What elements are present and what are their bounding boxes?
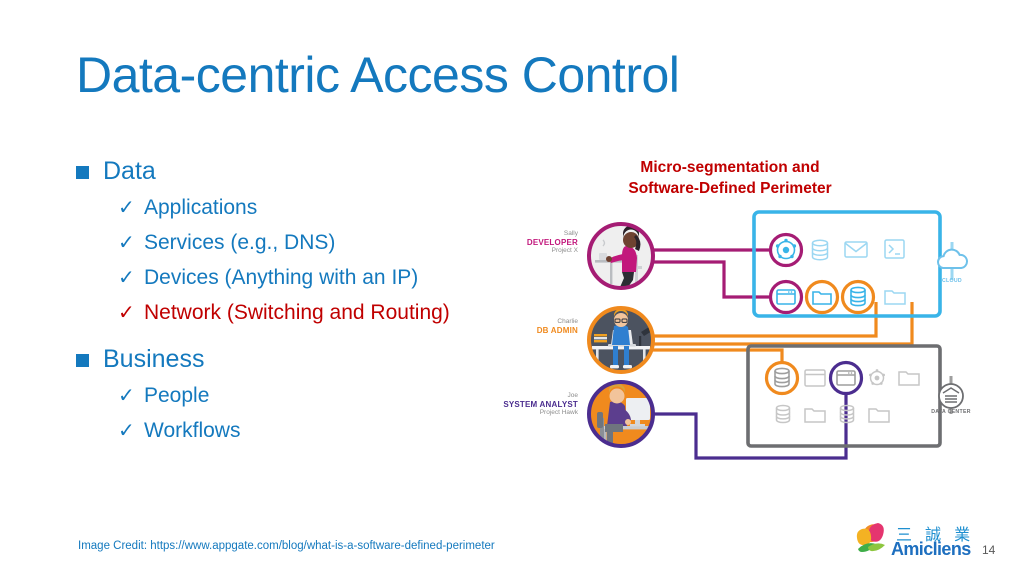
sub-bullet-devices: ✓ Devices (Anything with an IP) xyxy=(118,261,506,294)
person-role: DEVELOPER xyxy=(500,238,578,247)
check-icon: ✓ xyxy=(118,198,134,218)
square-bullet-icon xyxy=(76,354,89,367)
datacenter-zone-border xyxy=(748,346,940,446)
person-name: Charlie xyxy=(500,318,578,326)
database-resource-icon[interactable] xyxy=(843,282,874,313)
person-role: SYSTEM ANALYST xyxy=(490,400,578,409)
check-icon: ✓ xyxy=(118,233,134,253)
browser-resource-icon[interactable] xyxy=(771,282,802,313)
gear-resource-icon[interactable] xyxy=(869,369,885,385)
database-resource-icon[interactable] xyxy=(777,406,790,423)
person-label-system-analyst: Joe SYSTEM ANALYST Project Hawk xyxy=(490,392,578,417)
developer-avatar[interactable] xyxy=(589,224,653,294)
diagram-graphic xyxy=(500,150,1000,470)
sub-bullet-network: ✓ Network (Switching and Routing) xyxy=(118,296,506,329)
bullet-group-business: Business xyxy=(76,343,506,375)
folder-resource-icon[interactable] xyxy=(805,409,825,422)
check-icon: ✓ xyxy=(118,421,134,441)
connector-charlie-dcdb xyxy=(650,350,782,378)
slide-canvas: Data-centric Access Control Data ✓ Appli… xyxy=(0,0,1024,576)
bullet-label: Data xyxy=(103,159,156,184)
image-credit: Image Credit: https://www.appgate.com/bl… xyxy=(78,540,495,552)
database-resource-icon[interactable] xyxy=(813,240,828,260)
check-icon: ✓ xyxy=(118,303,134,323)
mail-resource-icon[interactable] xyxy=(845,242,867,257)
connector-charlie-folder xyxy=(650,302,876,336)
folder-resource-icon[interactable] xyxy=(899,372,919,385)
logo-wordmark: Amicliens xyxy=(891,539,971,560)
datacenter-zone xyxy=(748,346,963,446)
sub-bullet-label: Network (Switching and Routing) xyxy=(144,302,450,323)
check-icon: ✓ xyxy=(118,268,134,288)
database-resource-icon[interactable] xyxy=(767,363,798,394)
connector-sally-browser xyxy=(650,262,786,297)
system-analyst-avatar[interactable] xyxy=(589,382,653,447)
slide-number: 14 xyxy=(982,543,995,557)
person-project: Project Hawk xyxy=(490,409,578,417)
sub-bullet-label: Applications xyxy=(144,197,257,218)
sdp-diagram: Micro-segmentation and Software-Defined … xyxy=(500,150,1000,470)
bullet-list: Data ✓ Applications ✓ Services (e.g., DN… xyxy=(76,155,506,449)
browser-resource-icon[interactable] xyxy=(805,370,825,386)
cloud-zone-label: CLOUD xyxy=(932,278,972,284)
company-logo: 三 誠 業 Amicliens xyxy=(856,519,968,565)
square-bullet-icon xyxy=(76,166,89,179)
cloud-zone xyxy=(754,212,967,316)
datacenter-zone-label: DATA CENTER xyxy=(926,409,976,415)
sub-bullet-services: ✓ Services (e.g., DNS) xyxy=(118,226,506,259)
bullet-group-data: Data xyxy=(76,155,506,187)
db-admin-avatar[interactable] xyxy=(589,308,653,372)
person-project: Project X xyxy=(500,247,578,255)
sub-bullet-label: Workflows xyxy=(144,420,240,441)
gear-resource-icon[interactable] xyxy=(771,235,802,266)
sub-bullet-label: Devices (Anything with an IP) xyxy=(144,267,418,288)
sub-bullet-label: People xyxy=(144,385,209,406)
page-title: Data-centric Access Control xyxy=(76,48,679,103)
person-role: DB ADMIN xyxy=(500,326,578,335)
check-icon: ✓ xyxy=(118,386,134,406)
folder-resource-icon[interactable] xyxy=(807,282,838,313)
browser-resource-icon[interactable] xyxy=(831,363,862,394)
sub-bullet-workflows: ✓ Workflows xyxy=(118,414,506,447)
terminal-resource-icon[interactable] xyxy=(885,240,904,258)
person-label-developer: Sally DEVELOPER Project X xyxy=(500,230,578,255)
person-label-db-admin: Charlie DB ADMIN xyxy=(500,318,578,335)
sub-bullet-label: Services (e.g., DNS) xyxy=(144,232,335,253)
sub-bullet-applications: ✓ Applications xyxy=(118,191,506,224)
folder-resource-icon[interactable] xyxy=(885,291,905,304)
person-name: Joe xyxy=(490,392,578,400)
person-name: Sally xyxy=(500,230,578,238)
cloud-icon xyxy=(938,242,967,280)
bullet-label: Business xyxy=(103,347,204,372)
sub-bullet-people: ✓ People xyxy=(118,379,506,412)
folder-resource-icon[interactable] xyxy=(869,409,889,422)
